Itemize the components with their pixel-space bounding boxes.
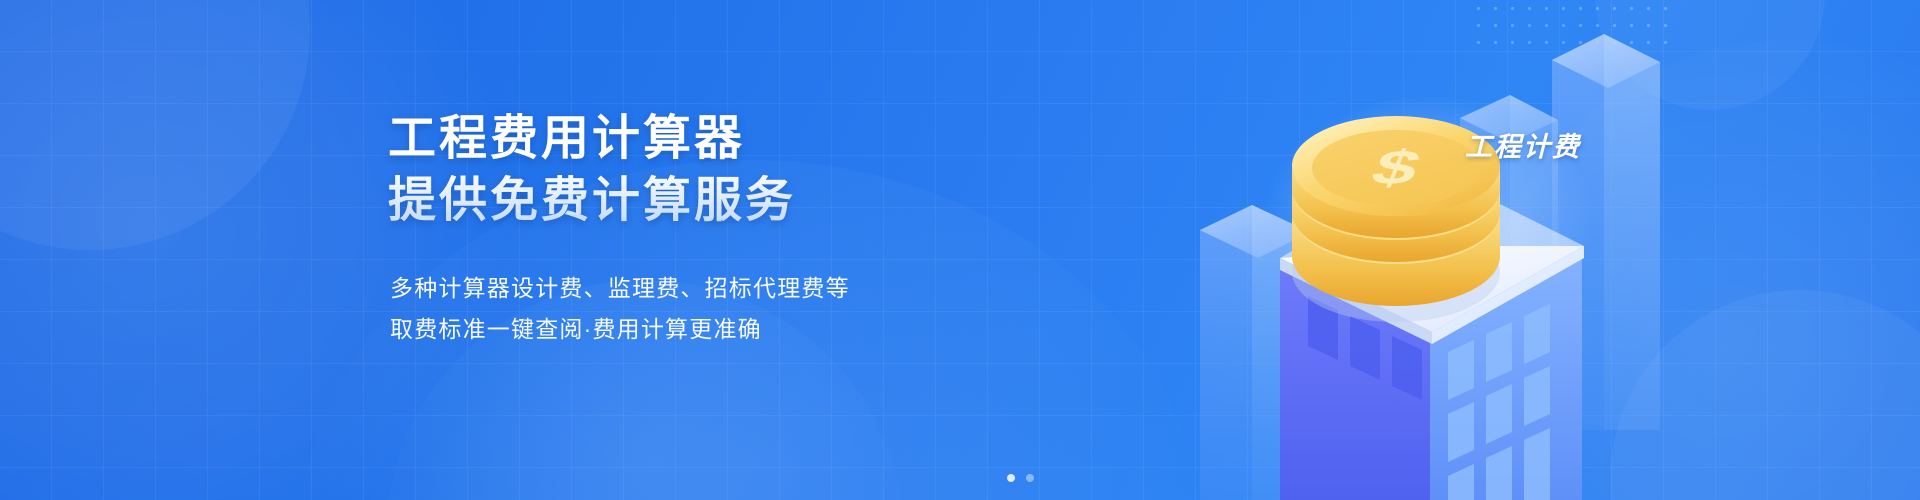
subtitle-line-1: 多种计算器设计费、监理费、招标代理费等: [390, 268, 1028, 309]
carousel-dots[interactable]: [0, 474, 1920, 482]
banner-copy: 工程费用计算器 提供免费计算服务 多种计算器设计费、监理费、招标代理费等 取费标…: [388, 108, 1028, 350]
illustration-label: 工程计费: [1465, 125, 1581, 164]
isometric-scene-svg: $: [1160, 0, 1720, 500]
carousel-dot-2[interactable]: [1026, 474, 1034, 482]
banner-subtitle: 多种计算器设计费、监理费、招标代理费等 取费标准一键查阅·费用计算更准确: [390, 268, 1028, 350]
promo-banner: 工程费用计算器 提供免费计算服务 多种计算器设计费、监理费、招标代理费等 取费标…: [0, 0, 1920, 500]
headline-line-2: 提供免费计算服务: [388, 170, 1028, 232]
page-title: 工程费用计算器 提供免费计算服务: [388, 108, 1028, 232]
subtitle-line-2: 取费标准一键查阅·费用计算更准确: [390, 309, 1028, 350]
banner-illustration: $ 工程计费: [1160, 0, 1720, 500]
headline-line-1: 工程费用计算器: [388, 108, 1028, 170]
carousel-dot-1[interactable]: [1007, 474, 1015, 482]
